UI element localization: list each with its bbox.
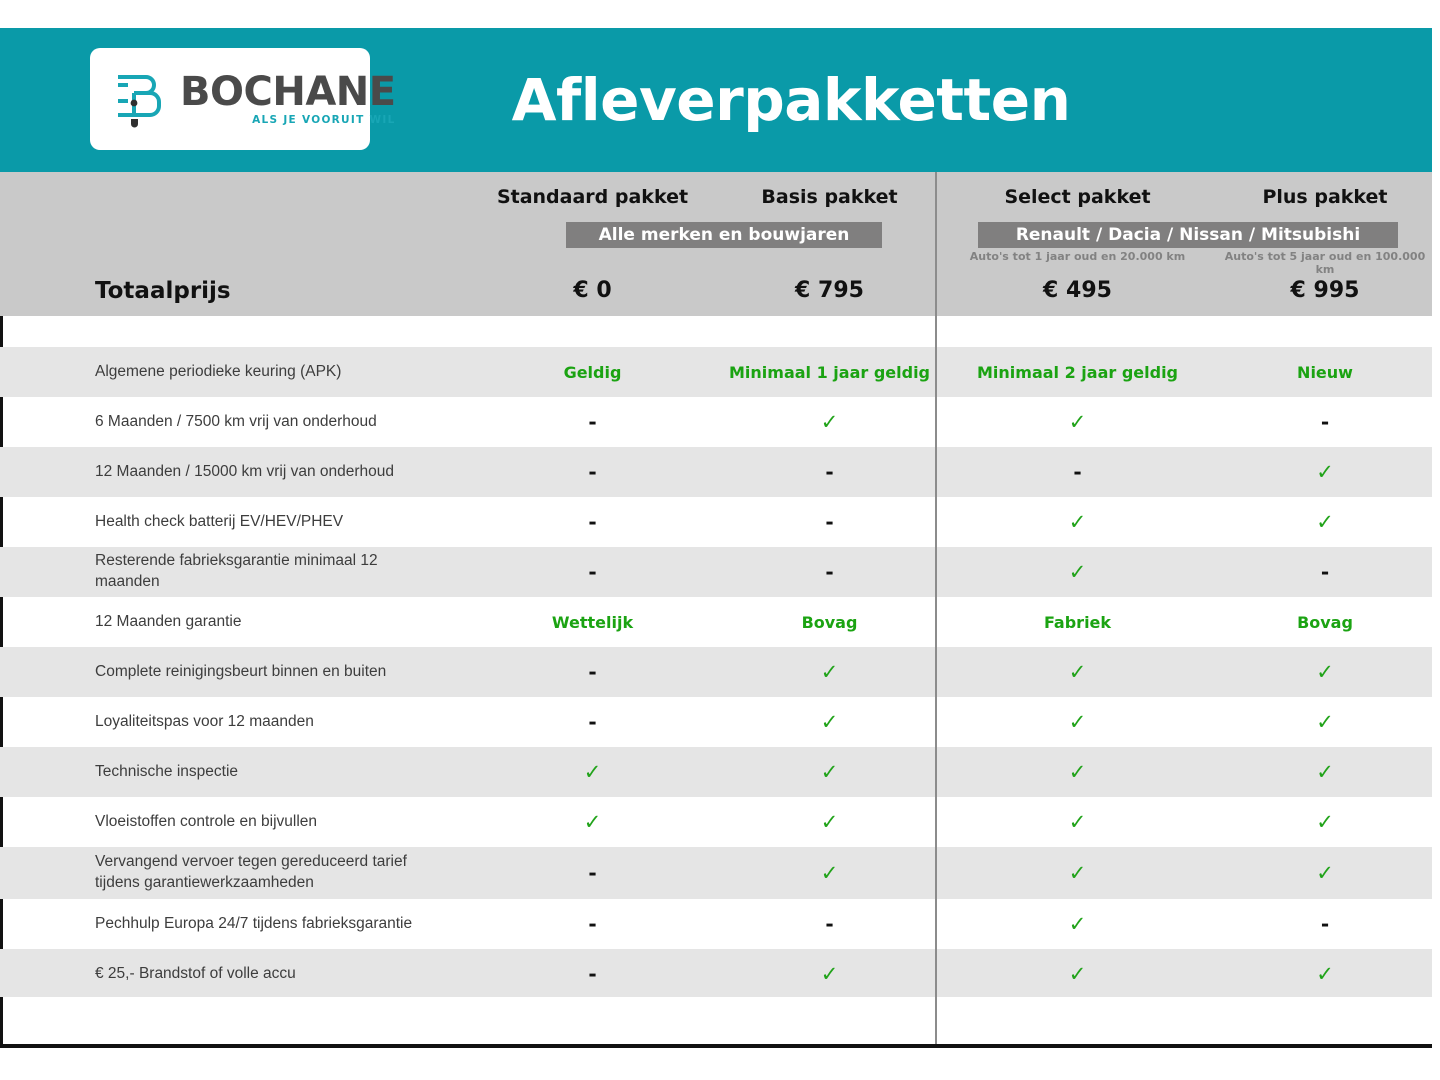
row-left-tick	[0, 997, 3, 1044]
row-label: Health check batterij EV/HEV/PHEV	[95, 497, 445, 547]
column-subnote: Auto's tot 5 jaar oud en 100.000 km	[1218, 250, 1432, 276]
table-header: Standaard pakket € 0 Basis pakket € 795 …	[0, 172, 1432, 316]
row-label: € 25,- Brandstof of volle accu	[95, 949, 445, 999]
column-group-divider	[935, 172, 937, 1044]
column-price: € 495	[937, 278, 1218, 303]
column-price: € 795	[724, 278, 935, 303]
row-value-basis: Minimaal 1 jaar geldig	[724, 347, 935, 397]
row-value-basis: ✓	[724, 647, 935, 697]
row-left-tick	[0, 647, 3, 697]
row-left-tick	[0, 697, 3, 747]
row-left-tick	[0, 899, 3, 949]
row-value-select: ✓	[937, 797, 1218, 847]
row-value-standaard: ✓	[461, 797, 724, 847]
row-label: Loyaliteitspas voor 12 maanden	[95, 697, 445, 747]
header-spacer-row	[0, 316, 1432, 347]
row-left-tick	[0, 347, 3, 397]
column-title: Select pakket	[937, 186, 1218, 208]
header-banner: BOCHANE ALS JE VOORUIT WIL Afleverpakket…	[0, 28, 1432, 172]
row-left-tick	[0, 747, 3, 797]
table-row: Vervangend vervoer tegen gereduceerd tar…	[0, 847, 1432, 899]
column-title: Plus pakket	[1218, 186, 1432, 208]
row-label: 12 Maanden / 15000 km vrij van onderhoud	[95, 447, 445, 497]
column-subnote: Auto's tot 1 jaar oud en 20.000 km	[937, 250, 1218, 263]
row-value-plus: ✓	[1218, 497, 1432, 547]
row-value-standaard: -	[461, 447, 724, 497]
row-value-plus: ✓	[1218, 747, 1432, 797]
row-value-select: ✓	[937, 949, 1218, 999]
row-label: Algemene periodieke keuring (APK)	[95, 347, 445, 397]
row-value-basis: ✓	[724, 397, 935, 447]
row-label: Vloeistoffen controle en bijvullen	[95, 797, 445, 847]
row-left-tick	[0, 497, 3, 547]
row-value-basis: ✓	[724, 949, 935, 999]
row-value-standaard: -	[461, 547, 724, 597]
column-title: Basis pakket	[724, 186, 935, 208]
row-value-standaard: -	[461, 697, 724, 747]
row-value-plus: -	[1218, 547, 1432, 597]
column-title: Standaard pakket	[461, 186, 724, 208]
row-value-select: ✓	[937, 547, 1218, 597]
row-label: Pechhulp Europa 24/7 tijdens fabrieksgar…	[95, 899, 445, 949]
row-value-select: ✓	[937, 747, 1218, 797]
row-value-plus: ✓	[1218, 447, 1432, 497]
row-value-standaard: -	[461, 497, 724, 547]
row-value-select: ✓	[937, 397, 1218, 447]
row-value-standaard: ✓	[461, 747, 724, 797]
row-value-plus: ✓	[1218, 697, 1432, 747]
row-value-select: ✓	[937, 697, 1218, 747]
row-value-standaard: -	[461, 949, 724, 999]
table-row: 12 Maanden garantie Wettelijk Bovag Fabr…	[0, 597, 1432, 647]
table-row: € 25,- Brandstof of volle accu - ✓ ✓ ✓	[0, 949, 1432, 999]
row-value-standaard: Wettelijk	[461, 597, 724, 647]
row-value-standaard: Geldig	[461, 347, 724, 397]
row-label: Technische inspectie	[95, 747, 445, 797]
table-row: Complete reinigingsbeurt binnen en buite…	[0, 647, 1432, 697]
group-label-renault-group: Renault / Dacia / Nissan / Mitsubishi	[978, 222, 1398, 248]
row-value-standaard: -	[461, 899, 724, 949]
row-value-basis: -	[724, 899, 935, 949]
row-label: Vervangend vervoer tegen gereduceerd tar…	[95, 847, 445, 899]
row-value-plus: ✓	[1218, 647, 1432, 697]
row-value-plus: Nieuw	[1218, 347, 1432, 397]
row-left-tick	[0, 797, 3, 847]
row-left-tick	[0, 397, 3, 447]
page-title: Afleverpakketten	[0, 28, 1432, 172]
table-row: Resterende fabrieksgarantie minimaal 12 …	[0, 547, 1432, 597]
row-value-basis: ✓	[724, 697, 935, 747]
row-value-basis: -	[724, 447, 935, 497]
row-value-basis: ✓	[724, 747, 935, 797]
row-value-select: ✓	[937, 497, 1218, 547]
group-label-all-brands: Alle merken en bouwjaren	[566, 222, 882, 248]
row-left-tick	[0, 847, 3, 899]
row-value-plus: -	[1218, 899, 1432, 949]
table-row: Algemene periodieke keuring (APK) Geldig…	[0, 347, 1432, 397]
row-left-tick	[0, 597, 3, 647]
row-value-basis: Bovag	[724, 597, 935, 647]
row-value-select: Fabriek	[937, 597, 1218, 647]
table-row: Pechhulp Europa 24/7 tijdens fabrieksgar…	[0, 899, 1432, 949]
row-value-standaard: -	[461, 647, 724, 697]
row-value-select: ✓	[937, 647, 1218, 697]
row-label: 6 Maanden / 7500 km vrij van onderhoud	[95, 397, 445, 447]
row-value-standaard: -	[461, 847, 724, 899]
row-value-select: ✓	[937, 899, 1218, 949]
row-value-plus: ✓	[1218, 797, 1432, 847]
row-left-tick	[0, 447, 3, 497]
table-row: Technische inspectie ✓ ✓ ✓ ✓	[0, 747, 1432, 797]
table-footer-spacer	[0, 997, 1432, 1044]
row-left-tick	[0, 316, 3, 347]
row-value-basis: ✓	[724, 797, 935, 847]
row-left-tick	[0, 547, 3, 597]
row-value-basis: -	[724, 497, 935, 547]
table-row: Loyaliteitspas voor 12 maanden - ✓ ✓ ✓	[0, 697, 1432, 747]
table-row: Vloeistoffen controle en bijvullen ✓ ✓ ✓…	[0, 797, 1432, 847]
row-left-tick	[0, 949, 3, 999]
row-label: Resterende fabrieksgarantie minimaal 12 …	[95, 547, 445, 597]
row-value-plus: ✓	[1218, 847, 1432, 899]
row-value-select: ✓	[937, 847, 1218, 899]
row-value-plus: Bovag	[1218, 597, 1432, 647]
row-value-select: -	[937, 447, 1218, 497]
row-label: 12 Maanden garantie	[95, 597, 445, 647]
table-row: Health check batterij EV/HEV/PHEV - - ✓ …	[0, 497, 1432, 547]
column-price: € 0	[461, 278, 724, 303]
row-value-standaard: -	[461, 397, 724, 447]
afleverpakketten-page: BOCHANE ALS JE VOORUIT WIL Afleverpakket…	[0, 0, 1440, 1080]
row-value-select: Minimaal 2 jaar geldig	[937, 347, 1218, 397]
row-value-basis: -	[724, 547, 935, 597]
table-body: Algemene periodieke keuring (APK) Geldig…	[0, 347, 1432, 999]
column-price: € 995	[1218, 278, 1432, 303]
total-price-label: Totaalprijs	[95, 278, 231, 304]
row-value-plus: -	[1218, 397, 1432, 447]
table-row: 12 Maanden / 15000 km vrij van onderhoud…	[0, 447, 1432, 497]
row-label: Complete reinigingsbeurt binnen en buite…	[95, 647, 445, 697]
packages-comparison-table: Standaard pakket € 0 Basis pakket € 795 …	[0, 172, 1432, 1048]
row-value-basis: ✓	[724, 847, 935, 899]
row-value-plus: ✓	[1218, 949, 1432, 999]
table-row: 6 Maanden / 7500 km vrij van onderhoud -…	[0, 397, 1432, 447]
